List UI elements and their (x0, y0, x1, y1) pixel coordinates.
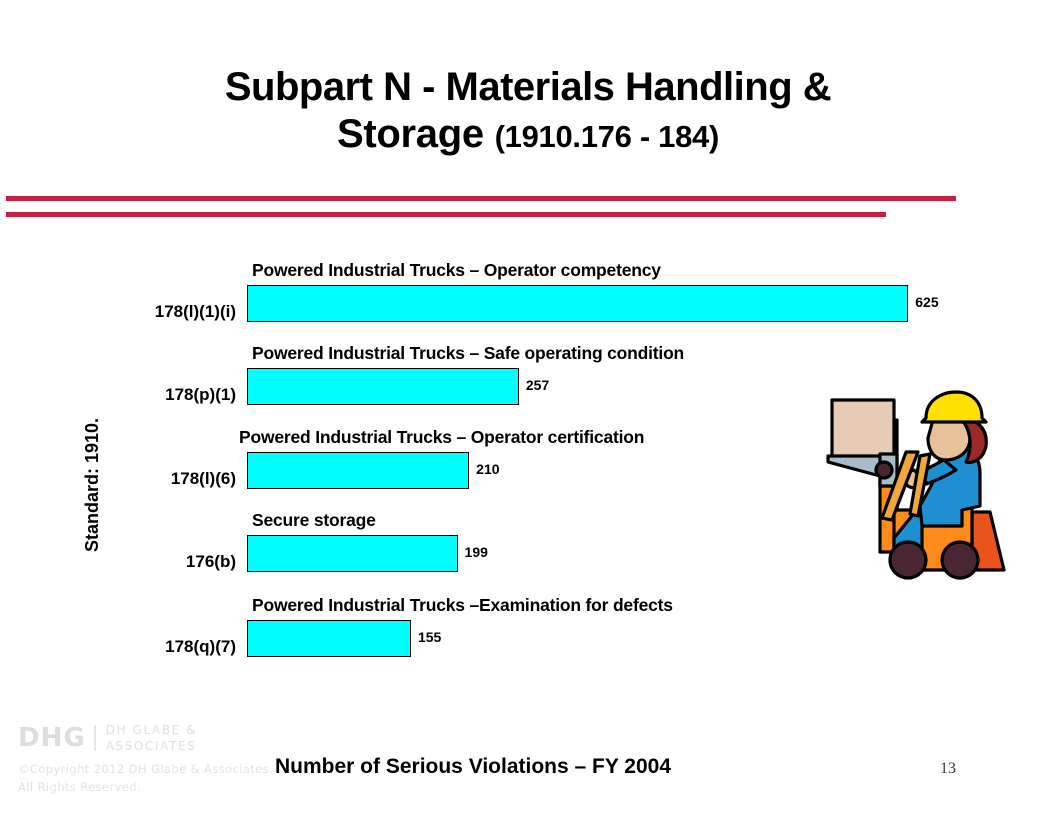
bar-track (247, 285, 908, 322)
bar-category-label: 178(l)(6) (16, 469, 236, 489)
dhg-name-line1: DH GLABE & (106, 723, 198, 737)
copyright-line2: All Rights Reserved. (18, 780, 141, 794)
page-number: 13 (940, 760, 956, 778)
copyright-notice: ©Copyright 2012 DH Glabe & Associates. A… (18, 761, 273, 796)
bar-series-label: Powered Industrial Trucks – Safe operati… (252, 343, 684, 364)
bar (247, 285, 908, 322)
bar-category-label: 178(l)(1)(i) (16, 302, 236, 322)
bar-series-label: Powered Industrial Trucks – Operator com… (252, 260, 661, 281)
bar-series-label: Powered Industrial Trucks –Examination f… (252, 595, 673, 616)
company-watermark: DHG DH GLABE & ASSOCIATES ©Copyright 201… (18, 722, 273, 796)
copyright-line1: ©Copyright 2012 DH Glabe & Associates. (18, 762, 273, 776)
dhg-logo-mark: DHG (18, 723, 86, 753)
forklift-operator-illustration (822, 388, 1022, 593)
bar-category-label: 178(p)(1) (16, 385, 236, 405)
logo-divider (94, 725, 96, 751)
bar-value-label: 625 (915, 294, 938, 310)
bar-series-label: Secure storage (252, 510, 376, 531)
bar-track (247, 368, 519, 405)
bar-category-label: 176(b) (16, 552, 236, 572)
bar-value-label: 155 (418, 629, 441, 645)
chart-caption: Number of Serious Violations – FY 2004 (275, 755, 671, 779)
bar (247, 535, 458, 572)
bar-track (247, 535, 458, 572)
bar-category-label: 178(q)(7) (16, 637, 236, 657)
dhg-logo-name: DH GLABE & ASSOCIATES (106, 722, 198, 754)
bar (247, 368, 519, 405)
dhg-name-line2: ASSOCIATES (106, 739, 197, 753)
bar-track (247, 620, 411, 657)
bar-value-label: 199 (465, 544, 488, 560)
dhg-logo: DHG DH GLABE & ASSOCIATES (18, 722, 273, 754)
bar (247, 620, 411, 657)
bar-track (247, 452, 469, 489)
bar-value-label: 210 (476, 461, 499, 477)
bar-value-label: 257 (526, 377, 549, 393)
bar (247, 452, 469, 489)
bar-series-label: Powered Industrial Trucks – Operator cer… (239, 427, 644, 448)
